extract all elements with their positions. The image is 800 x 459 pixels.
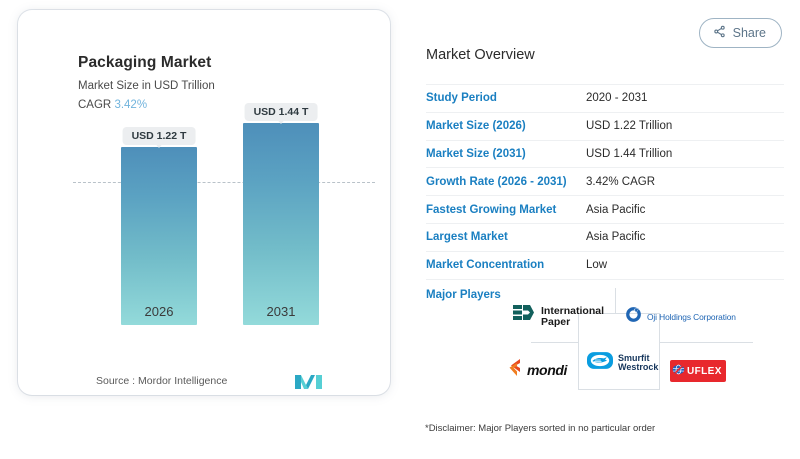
report-card: Share Packaging Market Market Size in US… <box>0 0 800 459</box>
oji-holdings-icon <box>625 306 642 328</box>
share-nodes-icon <box>713 25 726 41</box>
smurfit-westrock-icon <box>587 352 613 374</box>
oji-holdings-label: Oji Holdings Corporation <box>647 312 736 322</box>
table-row: Largest Market Asia Pacific <box>426 224 784 252</box>
uflex-badge: UFLEX <box>670 360 726 382</box>
reference-guideline <box>73 182 375 183</box>
x-tick-2026: 2026 <box>145 304 174 319</box>
row-label-market-size-2026: Market Size (2026) <box>426 120 586 132</box>
international-paper-icon <box>513 304 536 329</box>
row-label-study-period: Study Period <box>426 92 586 104</box>
share-button-label: Share <box>733 26 766 40</box>
chart-subtitle: Market Size in USD Trillion <box>78 80 215 92</box>
major-players-logo-grid: International Paper Oji Holdings Corpora… <box>505 290 753 405</box>
row-label-market-concentration: Market Concentration <box>426 259 586 271</box>
mondi-label: mondi <box>527 362 567 378</box>
market-overview-table: Study Period 2020 - 2031 Market Size (20… <box>426 84 784 310</box>
bar-value-label-2026: USD 1.22 T <box>123 127 196 145</box>
row-label-market-size-2031: Market Size (2031) <box>426 148 586 160</box>
cagr-value: 3.42% <box>114 99 147 111</box>
disclaimer-text: *Disclaimer: Major Players sorted in no … <box>425 423 655 434</box>
table-row: Growth Rate (2026 - 2031) 3.42% CAGR <box>426 168 784 196</box>
chart-cagr: CAGR 3.42% <box>78 99 147 111</box>
bar-value-label-2031: USD 1.44 T <box>245 103 318 121</box>
player-logo-international-paper[interactable]: International Paper <box>513 304 604 329</box>
player-logo-uflex[interactable]: UFLEX <box>670 360 726 382</box>
mordor-intelligence-logo-icon <box>295 373 323 391</box>
market-overview-heading: Market Overview <box>426 47 535 63</box>
smurfit-westrock-label: Smurfit Westrock <box>618 354 658 373</box>
x-tick-2031: 2031 <box>267 304 296 319</box>
bar-2031[interactable] <box>243 123 319 325</box>
row-value-market-size-2031: USD 1.44 Trillion <box>586 148 672 160</box>
bar-chart-plot: USD 1.22 T 2026 USD 1.44 T 2031 <box>73 120 363 360</box>
row-label-fastest-growing-market: Fastest Growing Market <box>426 204 586 216</box>
mondi-icon <box>507 358 522 382</box>
row-value-study-period: 2020 - 2031 <box>586 92 647 104</box>
table-row: Study Period 2020 - 2031 <box>426 84 784 113</box>
row-value-fastest-growing-market: Asia Pacific <box>586 204 645 216</box>
uflex-globe-icon <box>672 362 685 380</box>
share-button[interactable]: Share <box>699 18 782 48</box>
uflex-label: UFLEX <box>687 366 722 377</box>
bar-group-2031[interactable]: USD 1.44 T 2031 <box>243 123 319 325</box>
source-text: Source : Mordor Intelligence <box>96 375 227 387</box>
bar-2026[interactable] <box>121 147 197 325</box>
row-value-market-concentration: Low <box>586 259 607 271</box>
row-value-growth-rate: 3.42% CAGR <box>586 176 655 188</box>
cagr-label: CAGR <box>78 99 111 111</box>
player-logo-smurfit-westrock[interactable]: Smurfit Westrock <box>587 352 658 374</box>
player-logo-mondi[interactable]: mondi <box>507 358 567 382</box>
row-value-market-size-2026: USD 1.22 Trillion <box>586 120 672 132</box>
table-row: Market Size (2031) USD 1.44 Trillion <box>426 141 784 169</box>
chart-card: Packaging Market Market Size in USD Tril… <box>18 10 390 395</box>
row-value-largest-market: Asia Pacific <box>586 231 645 243</box>
table-row: Fastest Growing Market Asia Pacific <box>426 196 784 224</box>
row-label-growth-rate: Growth Rate (2026 - 2031) <box>426 176 586 188</box>
row-label-largest-market: Largest Market <box>426 231 586 243</box>
table-row: Market Concentration Low <box>426 252 784 280</box>
international-paper-label: International Paper <box>541 306 604 327</box>
chart-title: Packaging Market <box>78 54 211 72</box>
bar-group-2026[interactable]: USD 1.22 T 2026 <box>121 147 197 325</box>
player-logo-oji-holdings[interactable]: Oji Holdings Corporation <box>625 306 736 328</box>
table-row: Market Size (2026) USD 1.22 Trillion <box>426 113 784 141</box>
